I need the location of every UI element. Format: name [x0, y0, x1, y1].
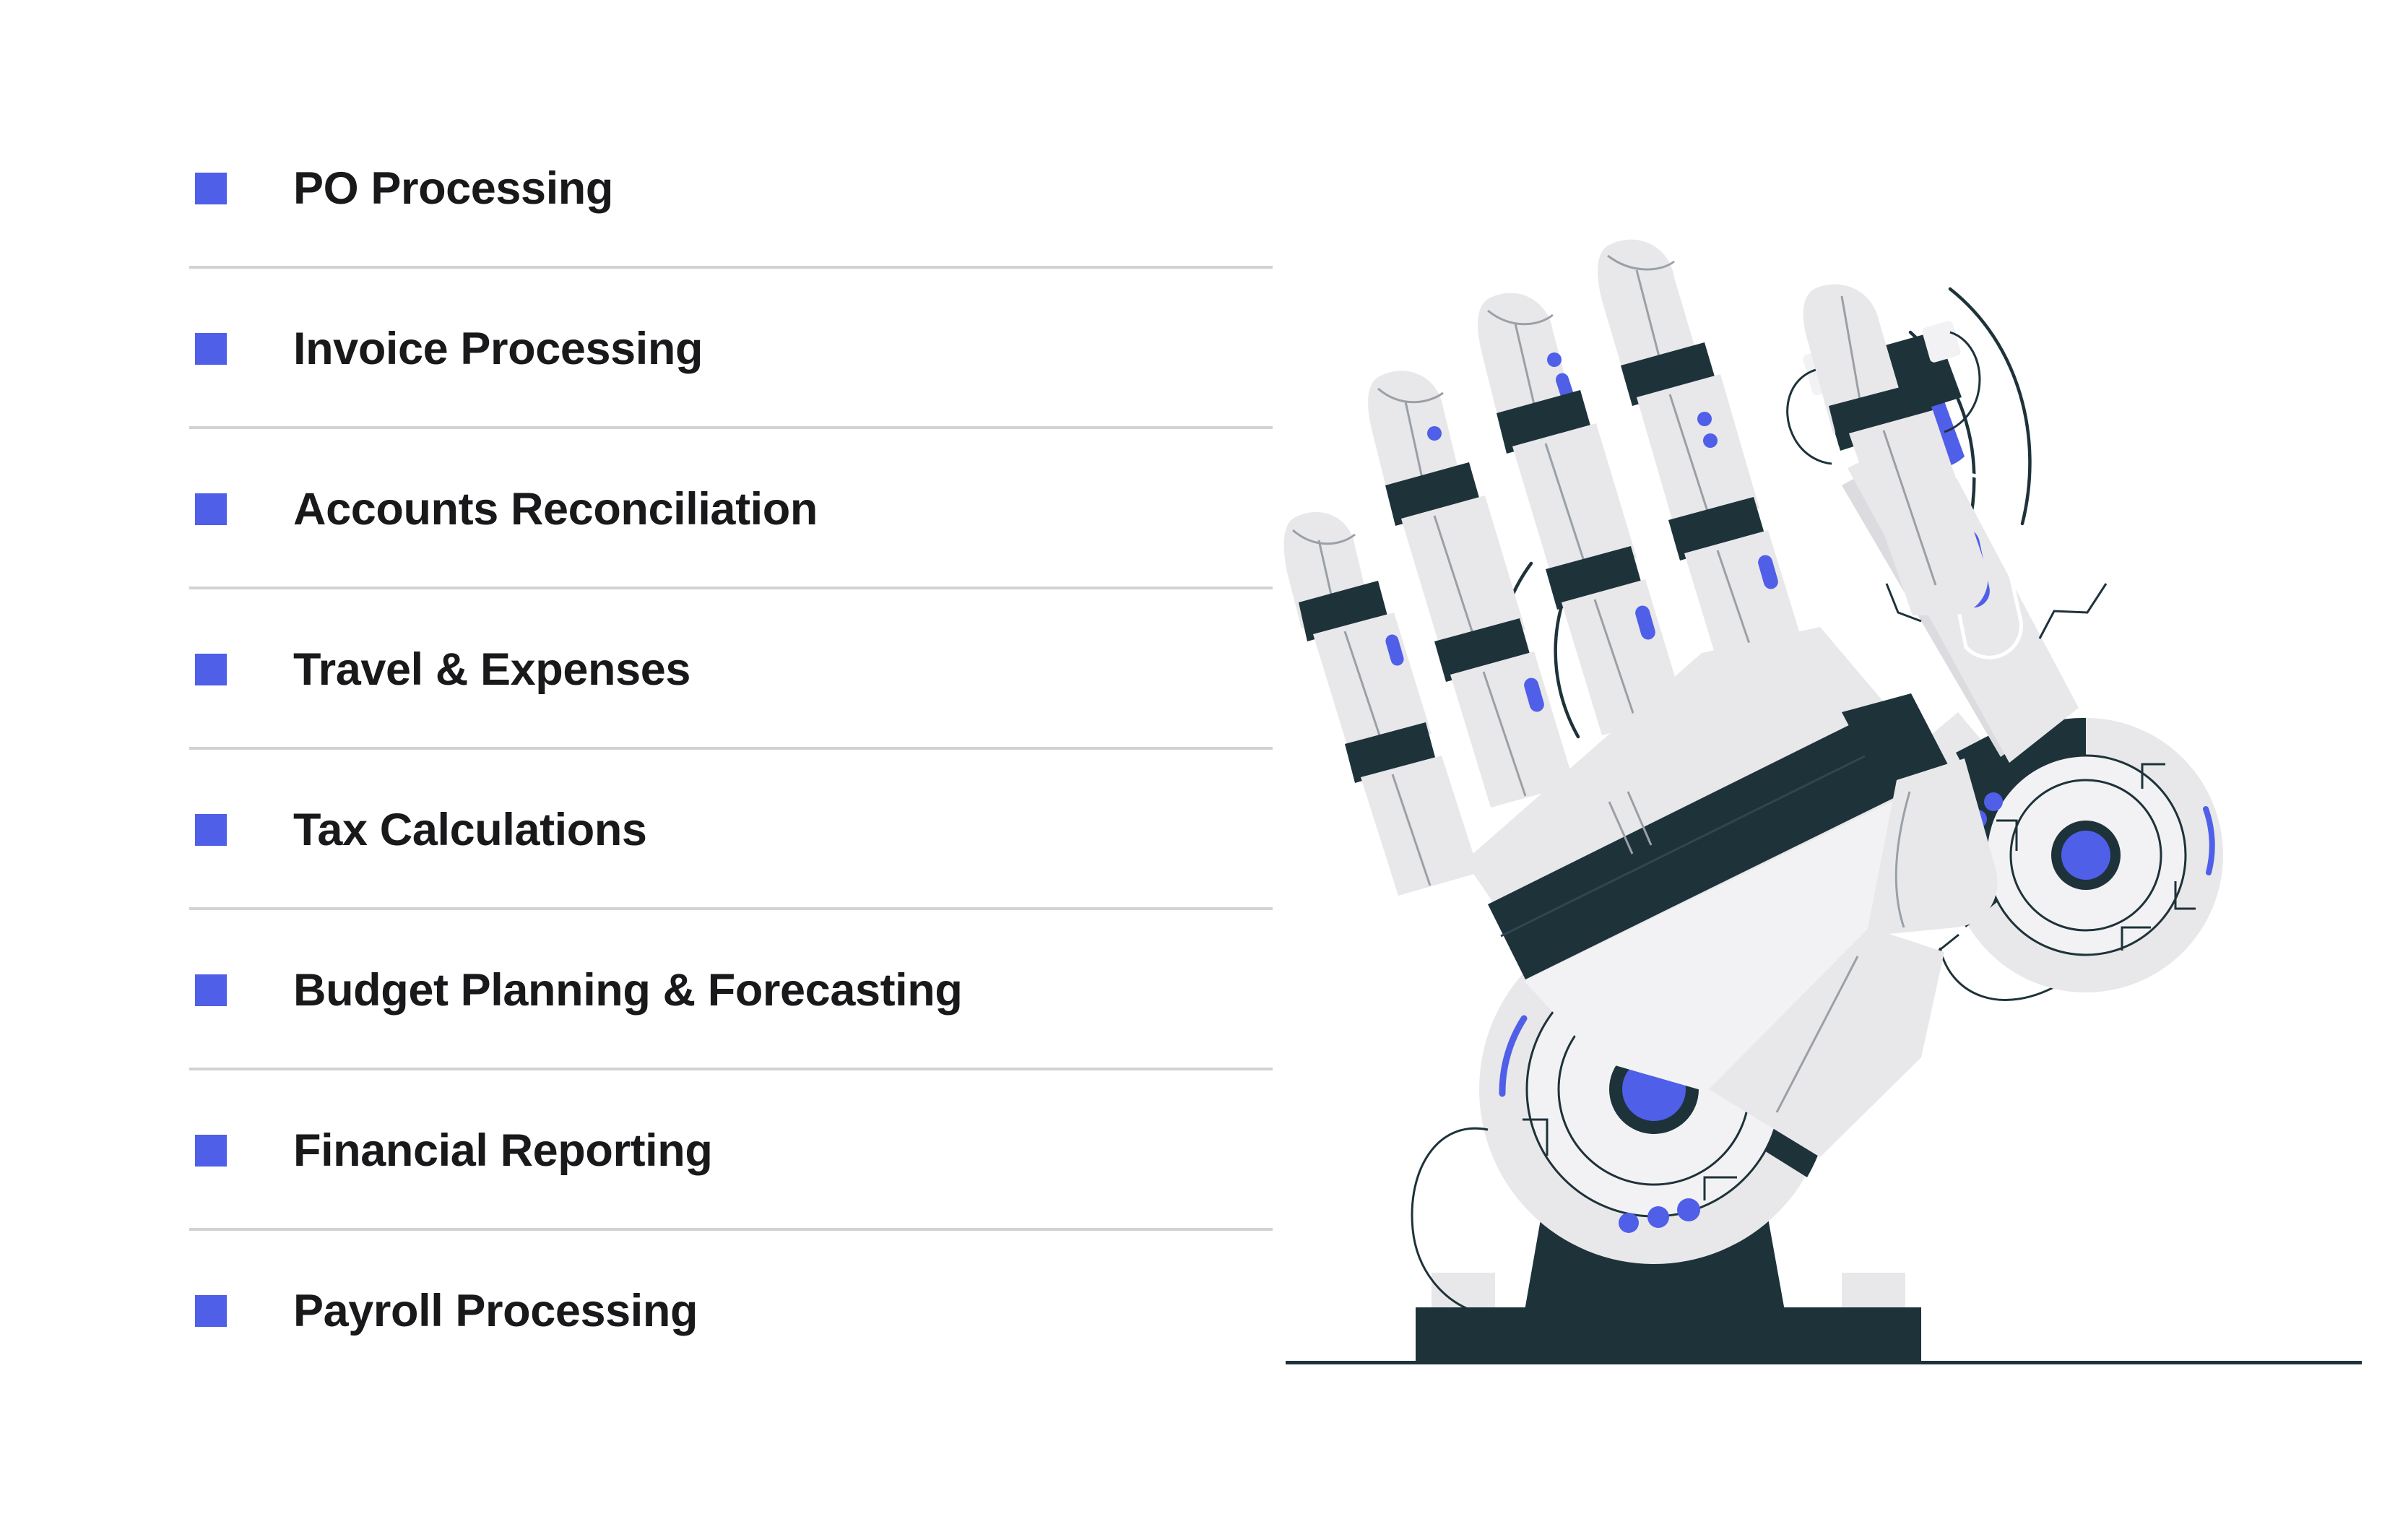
slide-canvas: PO Processing Invoice Processing Account… [0, 0, 2408, 1532]
list-item-label: Invoice Processing [293, 326, 703, 372]
list-item[interactable]: Financial Reporting [189, 1070, 1273, 1231]
forearm-bevel-right [2040, 584, 2106, 639]
bullet-square-icon [195, 974, 227, 1006]
base-joint-dot-2 [1647, 1206, 1669, 1228]
base-plinth [1416, 1307, 1921, 1362]
list-item[interactable]: PO Processing [189, 108, 1273, 269]
bullet-square-icon [195, 1135, 227, 1167]
list-item[interactable]: Payroll Processing [189, 1231, 1273, 1391]
bullet-square-icon [195, 333, 227, 365]
list-item[interactable]: Accounts Reconciliation [189, 429, 1273, 589]
elbow-hub [2061, 831, 2110, 880]
robotic-hand [1284, 240, 1998, 1157]
bullet-square-icon [195, 814, 227, 846]
ground-line [1286, 1361, 2362, 1364]
list-item-label: Budget Planning & Forecasting [293, 968, 962, 1013]
list-item-label: Travel & Expenses [293, 647, 690, 693]
index-dot-a [1697, 412, 1712, 426]
list-item[interactable]: Tax Calculations [189, 750, 1273, 910]
list-item-label: Financial Reporting [293, 1128, 712, 1174]
pinky-proximal [1361, 756, 1479, 896]
bullet-square-icon [195, 493, 227, 525]
bullet-square-icon [195, 173, 227, 204]
list-item[interactable]: Budget Planning & Forecasting [189, 910, 1273, 1070]
bullet-square-icon [195, 1295, 227, 1327]
list-item-label: Accounts Reconciliation [293, 487, 818, 532]
list-item[interactable]: Travel & Expenses [189, 589, 1273, 750]
middle-dot [1547, 352, 1562, 367]
bullet-square-icon [195, 654, 227, 685]
base-joint-dot-3 [1677, 1198, 1700, 1221]
list-item-label: Payroll Processing [293, 1289, 698, 1334]
robotic-arm-illustration: .bodyL { fill:#e8e8ea; } .bodyX { fill:#… [1271, 217, 2376, 1430]
process-list: PO Processing Invoice Processing Account… [189, 108, 1273, 1391]
index-dot-b [1703, 433, 1718, 448]
list-item-label: Tax Calculations [293, 808, 647, 853]
elbow-dot-3 [1984, 792, 2003, 811]
list-item-label: PO Processing [293, 166, 613, 212]
base-joint-dot-1 [1619, 1213, 1639, 1233]
ring-dot [1427, 426, 1442, 441]
list-item[interactable]: Invoice Processing [189, 269, 1273, 429]
